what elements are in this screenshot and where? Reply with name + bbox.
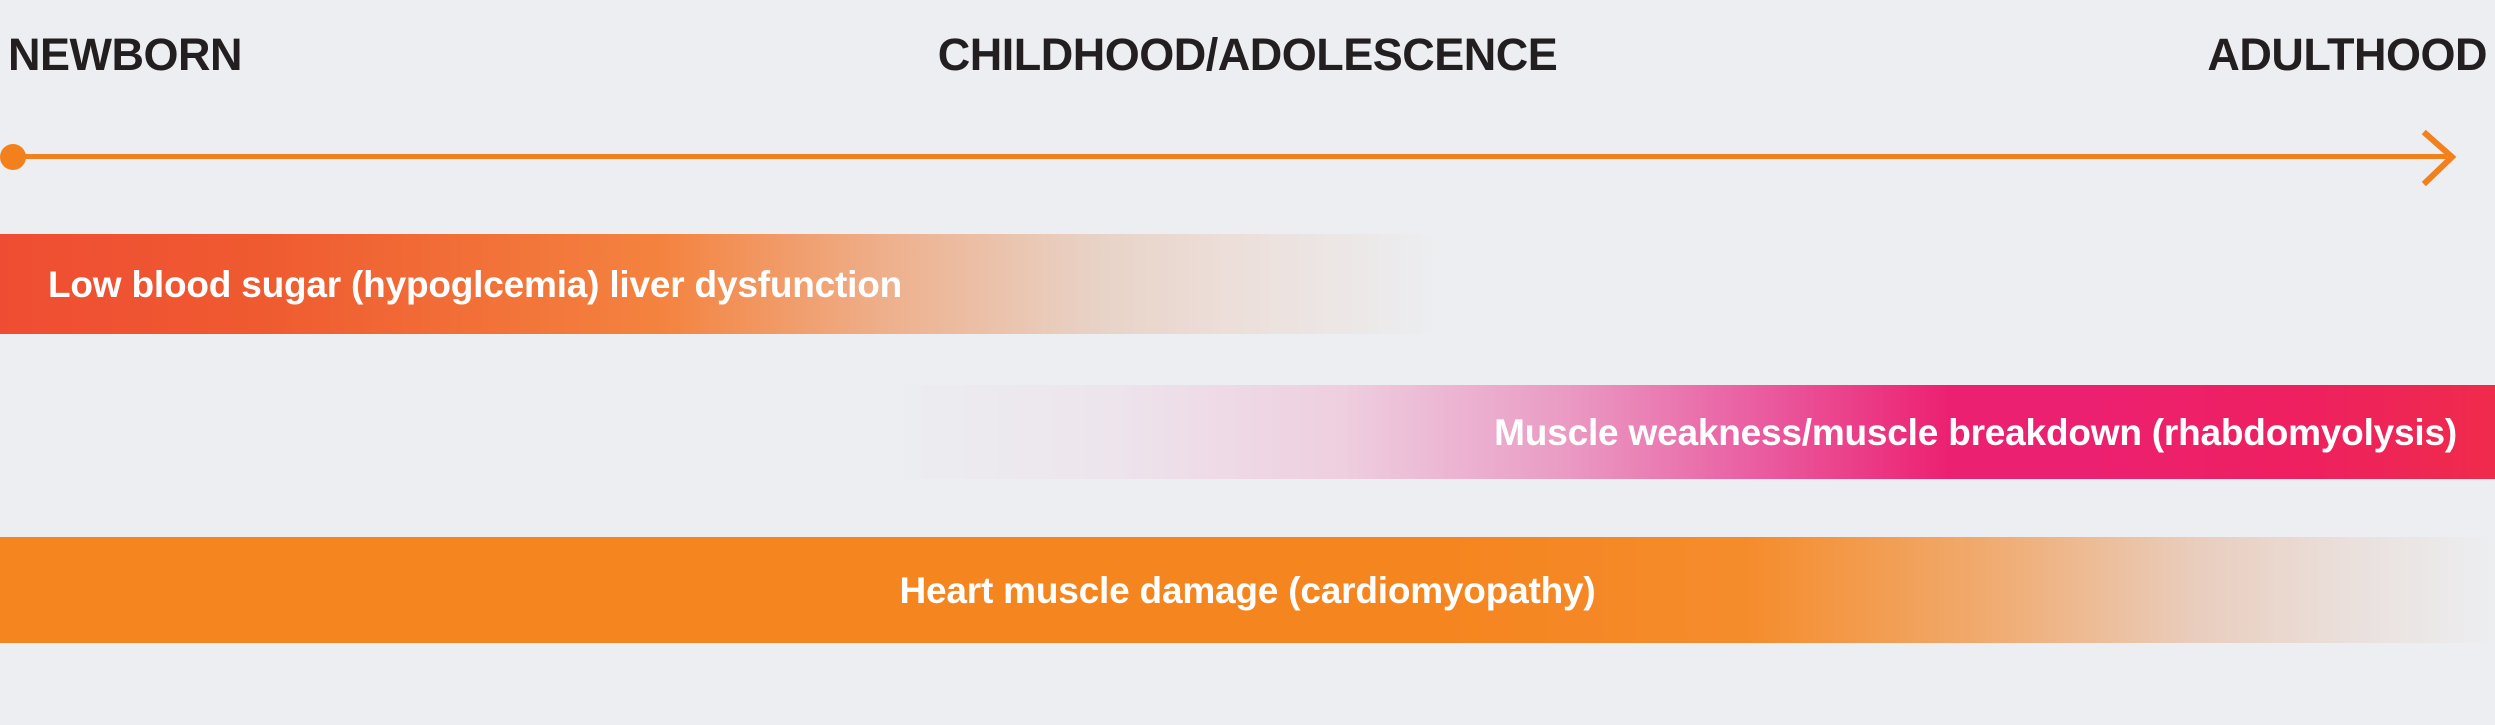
symptom-bar-rhabdomyolysis: Muscle weakness/muscle breakdown (rhabdo… [890, 385, 2495, 479]
symptom-bar-label-rhabdomyolysis: Muscle weakness/muscle breakdown (rhabdo… [1494, 414, 2457, 451]
symptom-timeline-infographic: NEWBORN CHILDHOOD/ADOLESCENCE ADULTHOOD … [0, 0, 2495, 725]
symptom-bar-label-hypoglycemia: Low blood sugar (hypoglcemia) liver dysf… [48, 266, 902, 303]
symptom-bar-cardiomyopathy: Heart muscle damage (cardiomyopathy) [0, 537, 2495, 643]
symptom-bar-label-cardiomyopathy: Heart muscle damage (cardiomyopathy) [899, 572, 1595, 609]
symptom-bar-hypoglycemia: Low blood sugar (hypoglcemia) liver dysf… [0, 234, 1440, 334]
symptom-bars-layer: Low blood sugar (hypoglcemia) liver dysf… [0, 0, 2495, 725]
